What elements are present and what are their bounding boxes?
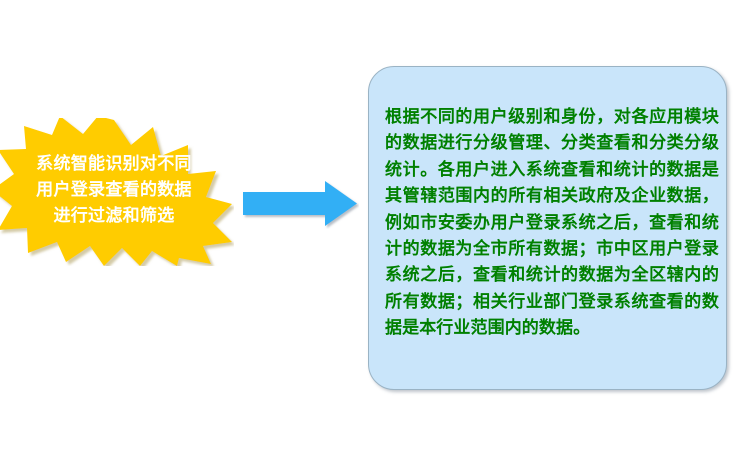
info-box[interactable]: 根据不同的用户级别和身份，对各应用模块的数据进行分级管理、分类查看和分类分级统计… <box>368 66 727 390</box>
slide-canvas: 系统智能识别对不同 用户登录查看的数据 进行过滤和筛选 根据不同的用户级别和身份… <box>0 0 739 476</box>
info-box-text: 根据不同的用户级别和身份，对各应用模块的数据进行分级管理、分类查看和分类分级统计… <box>385 104 719 342</box>
star-callout[interactable]: 系统智能识别对不同 用户登录查看的数据 进行过滤和筛选 <box>0 118 234 266</box>
right-arrow-shape[interactable] <box>241 179 359 229</box>
explosion-star-icon <box>0 118 234 266</box>
right-arrow-icon <box>241 179 359 229</box>
